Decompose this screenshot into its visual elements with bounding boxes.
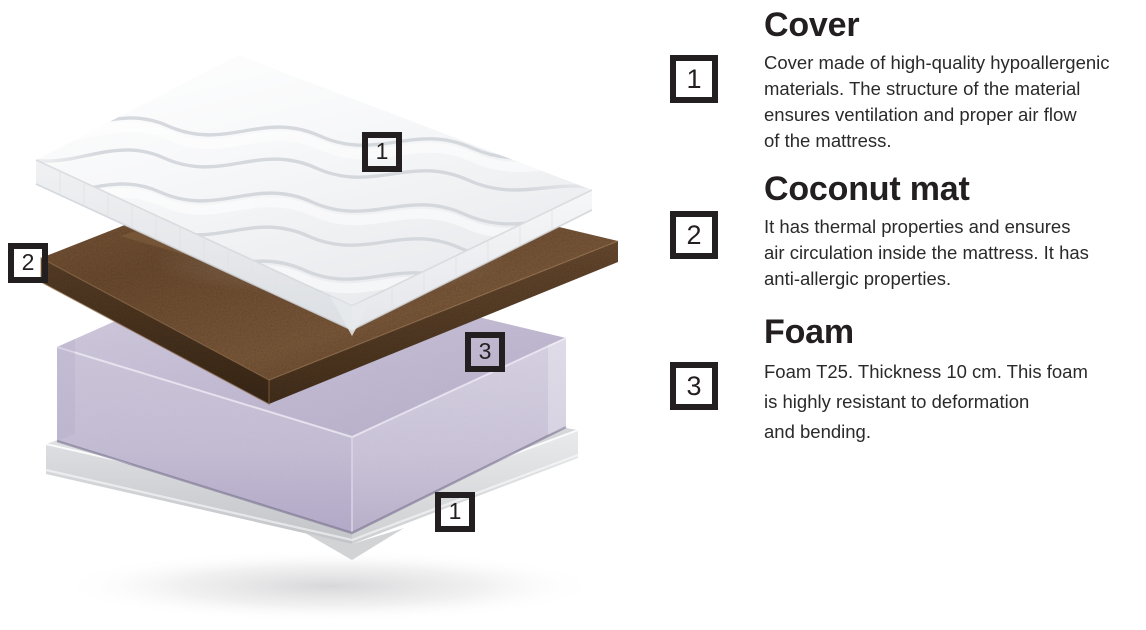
legend-number-badge-1: 1 — [670, 55, 718, 103]
diagram-page: 1 2 3 1 1 Cover Cover made of high-quali… — [0, 0, 1146, 630]
marker-value: 1 — [449, 500, 462, 523]
mattress-exploded-illustration: 1 2 3 1 — [0, 0, 660, 630]
legend-number-badge-2: 2 — [670, 211, 718, 259]
legend-body: Cover Cover made of high-quality hypoall… — [764, 8, 1146, 155]
marker-value: 1 — [376, 140, 389, 163]
marker-value: 2 — [22, 251, 35, 274]
legend-description-cover: Cover made of high-quality hypoallergeni… — [764, 50, 1144, 155]
legend-number: 2 — [686, 222, 701, 249]
legend-title-coconut-mat: Coconut mat — [764, 172, 1144, 208]
legend-number: 3 — [686, 373, 701, 400]
legend-body: Coconut mat It has thermal properties an… — [764, 172, 1146, 292]
legend-body: Foam Foam T25. Thickness 10 cm. This foa… — [764, 315, 1146, 447]
legend-description-coconut-mat: It has thermal properties and ensures ai… — [764, 214, 1144, 293]
legend-panel: 1 Cover Cover made of high-quality hypoa… — [660, 0, 1146, 630]
illustration-marker-cover[interactable]: 1 — [362, 132, 402, 172]
legend-title-cover: Cover — [764, 8, 1144, 44]
legend-entry-cover: 1 Cover Cover made of high-quality hypoa… — [660, 8, 1146, 155]
legend-title-foam: Foam — [764, 315, 1144, 351]
illustration-marker-base[interactable]: 1 — [435, 492, 475, 532]
legend-description-foam: Foam T25. Thickness 10 cm. This foam is … — [764, 357, 1144, 447]
marker-value: 3 — [479, 340, 492, 363]
legend-number-badge-3: 3 — [670, 362, 718, 410]
illustration-marker-coconut[interactable]: 2 — [8, 243, 48, 283]
ground-shadow — [58, 550, 602, 622]
illustration-marker-foam[interactable]: 3 — [465, 332, 505, 372]
legend-number: 1 — [686, 66, 701, 93]
legend-entry-foam: 3 Foam Foam T25. Thickness 10 cm. This f… — [660, 315, 1146, 447]
legend-entry-coconut-mat: 2 Coconut mat It has thermal properties … — [660, 172, 1146, 292]
mattress-layers-svg — [0, 0, 660, 630]
